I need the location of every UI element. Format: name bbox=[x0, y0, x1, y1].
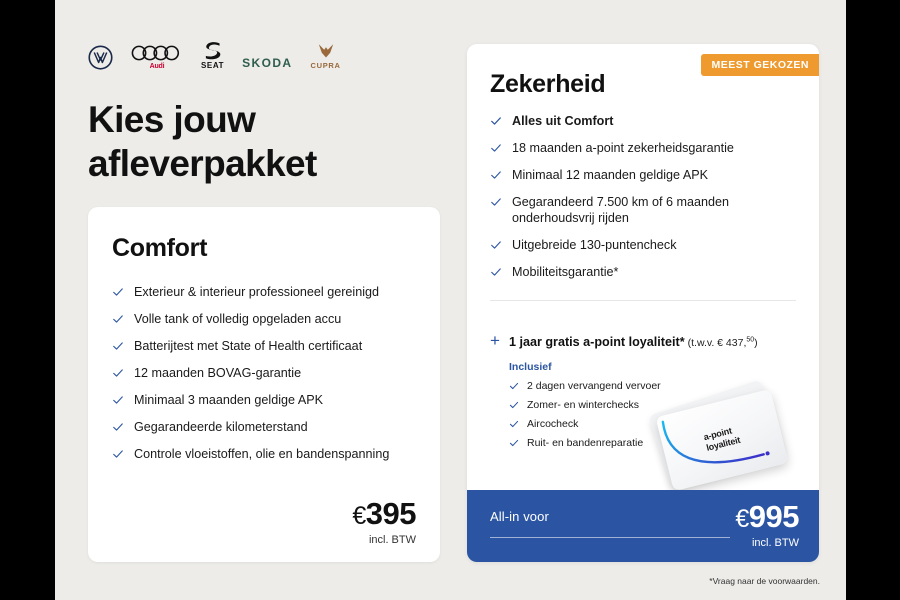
loyalty-value: (t.w.v. € 437,50) bbox=[688, 337, 758, 349]
check-icon bbox=[490, 239, 502, 251]
check-icon bbox=[112, 286, 124, 298]
list-item-label: 18 maanden a-point zekerheidsgarantie bbox=[512, 140, 734, 156]
list-item-label: 12 maanden BOVAG-garantie bbox=[134, 365, 301, 381]
list-item: Uitgebreide 130-puntencheck bbox=[490, 237, 800, 253]
zekerheid-price-footer: All-in voor €995 incl. BTW bbox=[467, 490, 819, 562]
footnote: *Vraag naar de voorwaarden. bbox=[709, 576, 820, 586]
comfort-price-block: €395 incl. BTW bbox=[352, 497, 416, 546]
list-item-label: Minimaal 12 maanden geldige APK bbox=[512, 167, 708, 183]
price-amount: 395 bbox=[366, 496, 416, 531]
list-item-label: 2 dagen vervangend vervoer bbox=[527, 380, 661, 393]
list-item-label: Uitgebreide 130-puntencheck bbox=[512, 237, 677, 253]
list-item: 18 maanden a-point zekerheidsgarantie bbox=[490, 140, 800, 156]
currency-symbol: € bbox=[735, 505, 748, 533]
zekerheid-title: Zekerheid bbox=[490, 70, 605, 99]
audi-wordmark: Audi bbox=[150, 63, 165, 70]
list-item: Exterieur & interieur professioneel gere… bbox=[112, 284, 416, 300]
check-icon bbox=[112, 421, 124, 433]
check-icon bbox=[112, 448, 124, 460]
comfort-title: Comfort bbox=[112, 234, 416, 263]
zekerheid-price-block: €995 incl. BTW bbox=[735, 500, 799, 549]
comfort-price: €395 bbox=[352, 497, 416, 533]
list-item-label: Gegarandeerde kilometerstand bbox=[134, 419, 308, 435]
status-badge: MEEST GEKOZEN bbox=[701, 54, 819, 76]
list-item-label: Mobiliteitsgarantie* bbox=[512, 264, 618, 280]
zekerheid-price: €995 bbox=[735, 500, 799, 536]
check-icon bbox=[490, 169, 502, 181]
cupra-logo: CUPRA bbox=[311, 43, 341, 70]
check-icon bbox=[112, 394, 124, 406]
loyalty-value-cents: 50 bbox=[746, 337, 754, 344]
brand-logo-strip: Audi SEAT SKODA CUPRA bbox=[88, 38, 341, 70]
plus-icon: + bbox=[490, 334, 500, 347]
package-card-comfort[interactable]: Comfort Exterieur & interieur profession… bbox=[88, 207, 440, 562]
currency-symbol: € bbox=[352, 502, 365, 530]
zekerheid-price-note: incl. BTW bbox=[735, 537, 799, 549]
check-icon bbox=[490, 115, 502, 127]
screenshot-stage: Audi SEAT SKODA CUPRA Kies jouw afleve bbox=[0, 0, 900, 600]
price-amount: 995 bbox=[749, 499, 799, 534]
allin-label: All-in voor bbox=[490, 509, 549, 524]
skoda-logo: SKODA bbox=[242, 56, 292, 70]
inclusief-label: Inclusief bbox=[509, 361, 806, 373]
cupra-wordmark: CUPRA bbox=[311, 61, 341, 70]
check-icon bbox=[490, 196, 502, 208]
check-icon bbox=[509, 381, 519, 391]
list-item: Volle tank of volledig opgeladen accu bbox=[112, 311, 416, 327]
loyalty-header: + 1 jaar gratis a-point loyaliteit*(t.w.… bbox=[490, 334, 806, 349]
check-icon bbox=[509, 419, 519, 429]
footer-rule bbox=[490, 537, 730, 538]
list-item-label: Exterieur & interieur professioneel gere… bbox=[134, 284, 379, 300]
list-item-label: Ruit- en bandenreparatie bbox=[527, 437, 643, 450]
list-item: Batterijtest met State of Health certifi… bbox=[112, 338, 416, 354]
promo-canvas: Audi SEAT SKODA CUPRA Kies jouw afleve bbox=[55, 0, 846, 600]
list-item: Minimaal 12 maanden geldige APK bbox=[490, 167, 800, 183]
page-title: Kies jouw afleverpakket bbox=[88, 98, 317, 186]
check-icon bbox=[490, 266, 502, 278]
package-card-zekerheid[interactable]: MEEST GEKOZEN Zekerheid Alles uit Comfor… bbox=[467, 44, 819, 562]
check-icon bbox=[112, 313, 124, 325]
page-title-line-1: Kies jouw bbox=[88, 98, 317, 142]
list-item: Minimaal 3 maanden geldige APK bbox=[112, 392, 416, 408]
volkswagen-logo bbox=[88, 45, 113, 70]
list-item-label: Volle tank of volledig opgeladen accu bbox=[134, 311, 341, 327]
page-title-line-2: afleverpakket bbox=[88, 142, 317, 186]
list-item: Controle vloeistoffen, olie en bandenspa… bbox=[112, 446, 416, 462]
list-item-label: Batterijtest met State of Health certifi… bbox=[134, 338, 362, 354]
comfort-price-note: incl. BTW bbox=[352, 534, 416, 546]
section-divider bbox=[490, 300, 796, 301]
audi-logo: Audi bbox=[131, 44, 183, 70]
comfort-feature-list: Exterieur & interieur professioneel gere… bbox=[112, 284, 416, 462]
loyalty-title: 1 jaar gratis a-point loyaliteit* bbox=[509, 335, 685, 349]
skoda-wordmark: SKODA bbox=[242, 56, 292, 70]
list-item-label: Aircocheck bbox=[527, 418, 578, 431]
loyalty-value-suffix: ) bbox=[754, 337, 758, 349]
list-item: Gegarandeerde kilometerstand bbox=[112, 419, 416, 435]
seat-wordmark: SEAT bbox=[201, 61, 224, 70]
list-item-label: Gegarandeerd 7.500 km of 6 maanden onder… bbox=[512, 194, 800, 226]
list-item-label: Alles uit Comfort bbox=[512, 113, 613, 129]
seat-logo: SEAT bbox=[201, 41, 224, 70]
list-item-label: Zomer- en winterchecks bbox=[527, 399, 639, 412]
check-icon bbox=[490, 142, 502, 154]
list-item: Mobiliteitsgarantie* bbox=[490, 264, 800, 280]
list-item: 12 maanden BOVAG-garantie bbox=[112, 365, 416, 381]
list-item-label: Controle vloeistoffen, olie en bandenspa… bbox=[134, 446, 389, 462]
check-icon bbox=[509, 438, 519, 448]
check-icon bbox=[112, 340, 124, 352]
loyalty-value-prefix: (t.w.v. € 437, bbox=[688, 337, 747, 349]
list-item-label: Minimaal 3 maanden geldige APK bbox=[134, 392, 323, 408]
list-item: Alles uit Comfort bbox=[490, 113, 800, 129]
check-icon bbox=[509, 400, 519, 410]
zekerheid-feature-list: Alles uit Comfort 18 maanden a-point zek… bbox=[490, 113, 800, 291]
check-icon bbox=[112, 367, 124, 379]
list-item: Gegarandeerd 7.500 km of 6 maanden onder… bbox=[490, 194, 800, 226]
